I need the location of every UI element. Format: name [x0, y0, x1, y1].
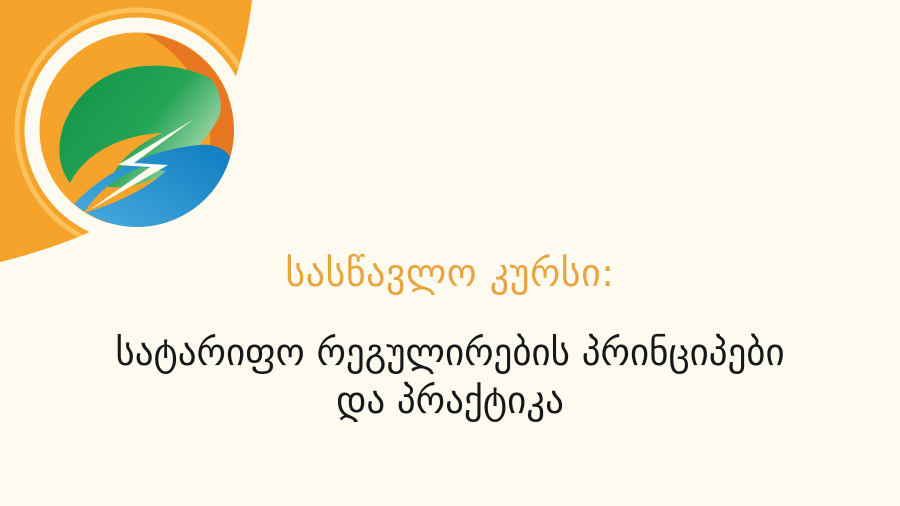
course-kicker: სასწავლო კურსი:	[0, 252, 900, 295]
title-slide: სასწავლო კურსი: სატარიფო რეგულირების პრი…	[0, 0, 900, 506]
page-title-line-2: და პრაქტიკა	[0, 377, 900, 425]
page-title: სატარიფო რეგულირების პრინციპები და პრაქტ…	[0, 329, 900, 425]
energy-water-leaf-emblem	[22, 15, 252, 245]
slide-text-block: სასწავლო კურსი: სატარიფო რეგულირების პრი…	[0, 252, 900, 425]
page-title-line-1: სატარიფო რეგულირების პრინციპები	[0, 329, 900, 377]
